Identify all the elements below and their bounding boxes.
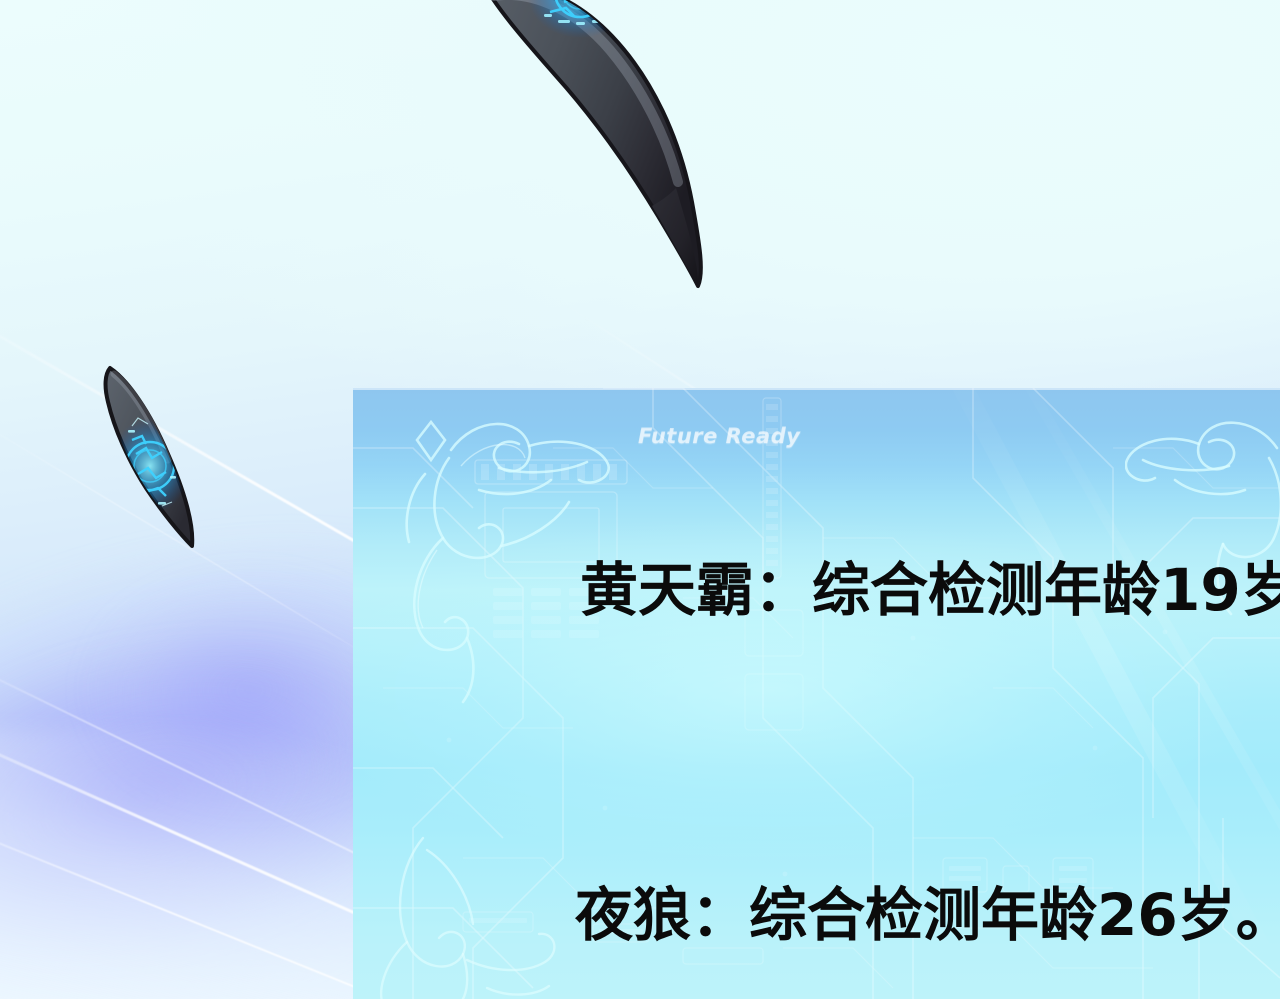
future-ready-watermark: Future Ready bbox=[638, 424, 800, 448]
dialogue-line-1: 黄天霸：综合检测年龄19岁。 bbox=[580, 543, 1280, 627]
comic-page: Future Ready 黄天霸：综合检测年龄19岁。 夜狼：综合检测年龄26岁… bbox=[0, 0, 1280, 999]
blade-shard-large bbox=[480, 0, 740, 310]
dialogue-line-2: 夜狼：综合检测年龄26岁。 bbox=[575, 868, 1280, 952]
blade-shard-small bbox=[88, 356, 218, 571]
blade-rune-sigil bbox=[110, 418, 190, 514]
dialogue-panel: Future Ready 黄天霸：综合检测年龄19岁。 夜狼：综合检测年龄26岁… bbox=[353, 388, 1280, 999]
floral-swirl-bottom-left bbox=[367, 828, 587, 999]
panel-top-edge bbox=[353, 388, 1280, 390]
